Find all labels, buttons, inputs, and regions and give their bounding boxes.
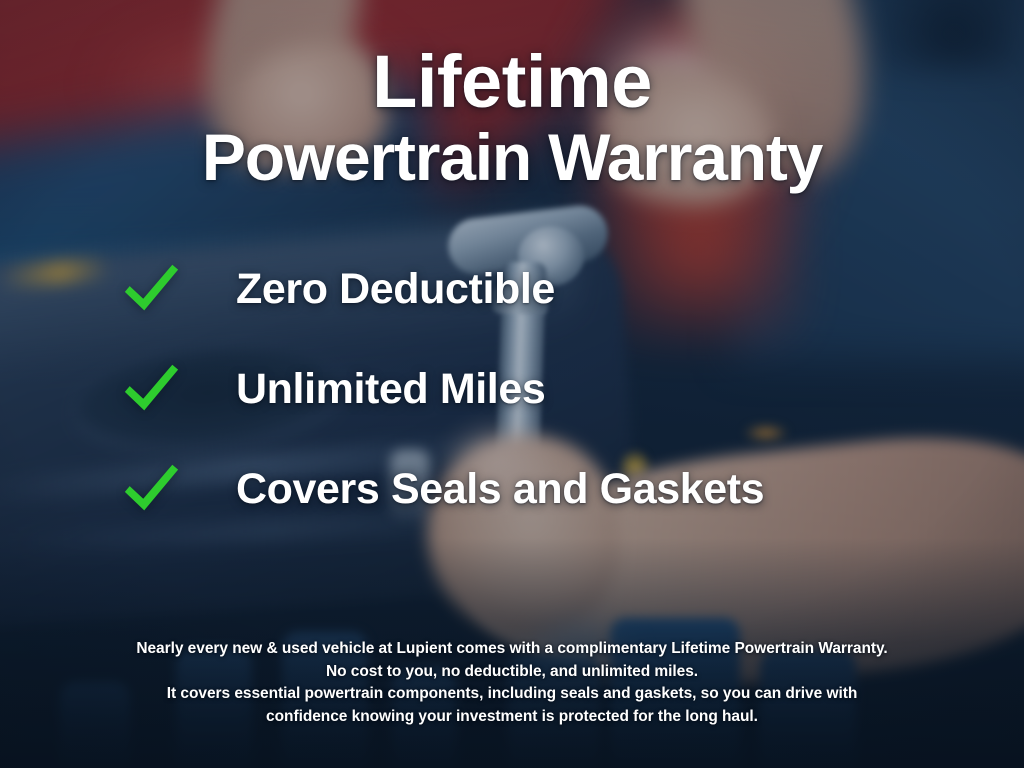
check-icon	[120, 458, 182, 520]
list-item: Covers Seals and Gaskets	[120, 439, 1024, 539]
disclaimer-line-4: confidence knowing your investment is pr…	[22, 706, 1002, 729]
disclaimer-line-2: No cost to you, no deductible, and unlim…	[22, 661, 1002, 684]
benefit-label-covers-seals-gaskets: Covers Seals and Gaskets	[236, 468, 764, 511]
warranty-promo-banner: Lifetime Powertrain Warranty Zero Deduct…	[0, 0, 1024, 768]
benefit-label-unlimited-miles: Unlimited Miles	[236, 368, 545, 411]
banner-content: Lifetime Powertrain Warranty Zero Deduct…	[0, 0, 1024, 768]
headline-line-2: Powertrain Warranty	[0, 124, 1024, 191]
list-item: Zero Deductible	[120, 239, 1024, 339]
benefit-label-zero-deductible: Zero Deductible	[236, 268, 555, 311]
benefits-list: Zero Deductible Unlimited Miles Covers S…	[0, 239, 1024, 539]
list-item: Unlimited Miles	[120, 339, 1024, 439]
headline-line-1: Lifetime	[0, 48, 1024, 116]
disclaimer-paragraph: Nearly every new & used vehicle at Lupie…	[0, 638, 1024, 768]
check-icon	[120, 358, 182, 420]
check-icon	[120, 258, 182, 320]
page-title: Lifetime Powertrain Warranty	[0, 0, 1024, 191]
disclaimer-line-3: It covers essential powertrain component…	[22, 683, 1002, 706]
disclaimer-line-1: Nearly every new & used vehicle at Lupie…	[22, 638, 1002, 661]
